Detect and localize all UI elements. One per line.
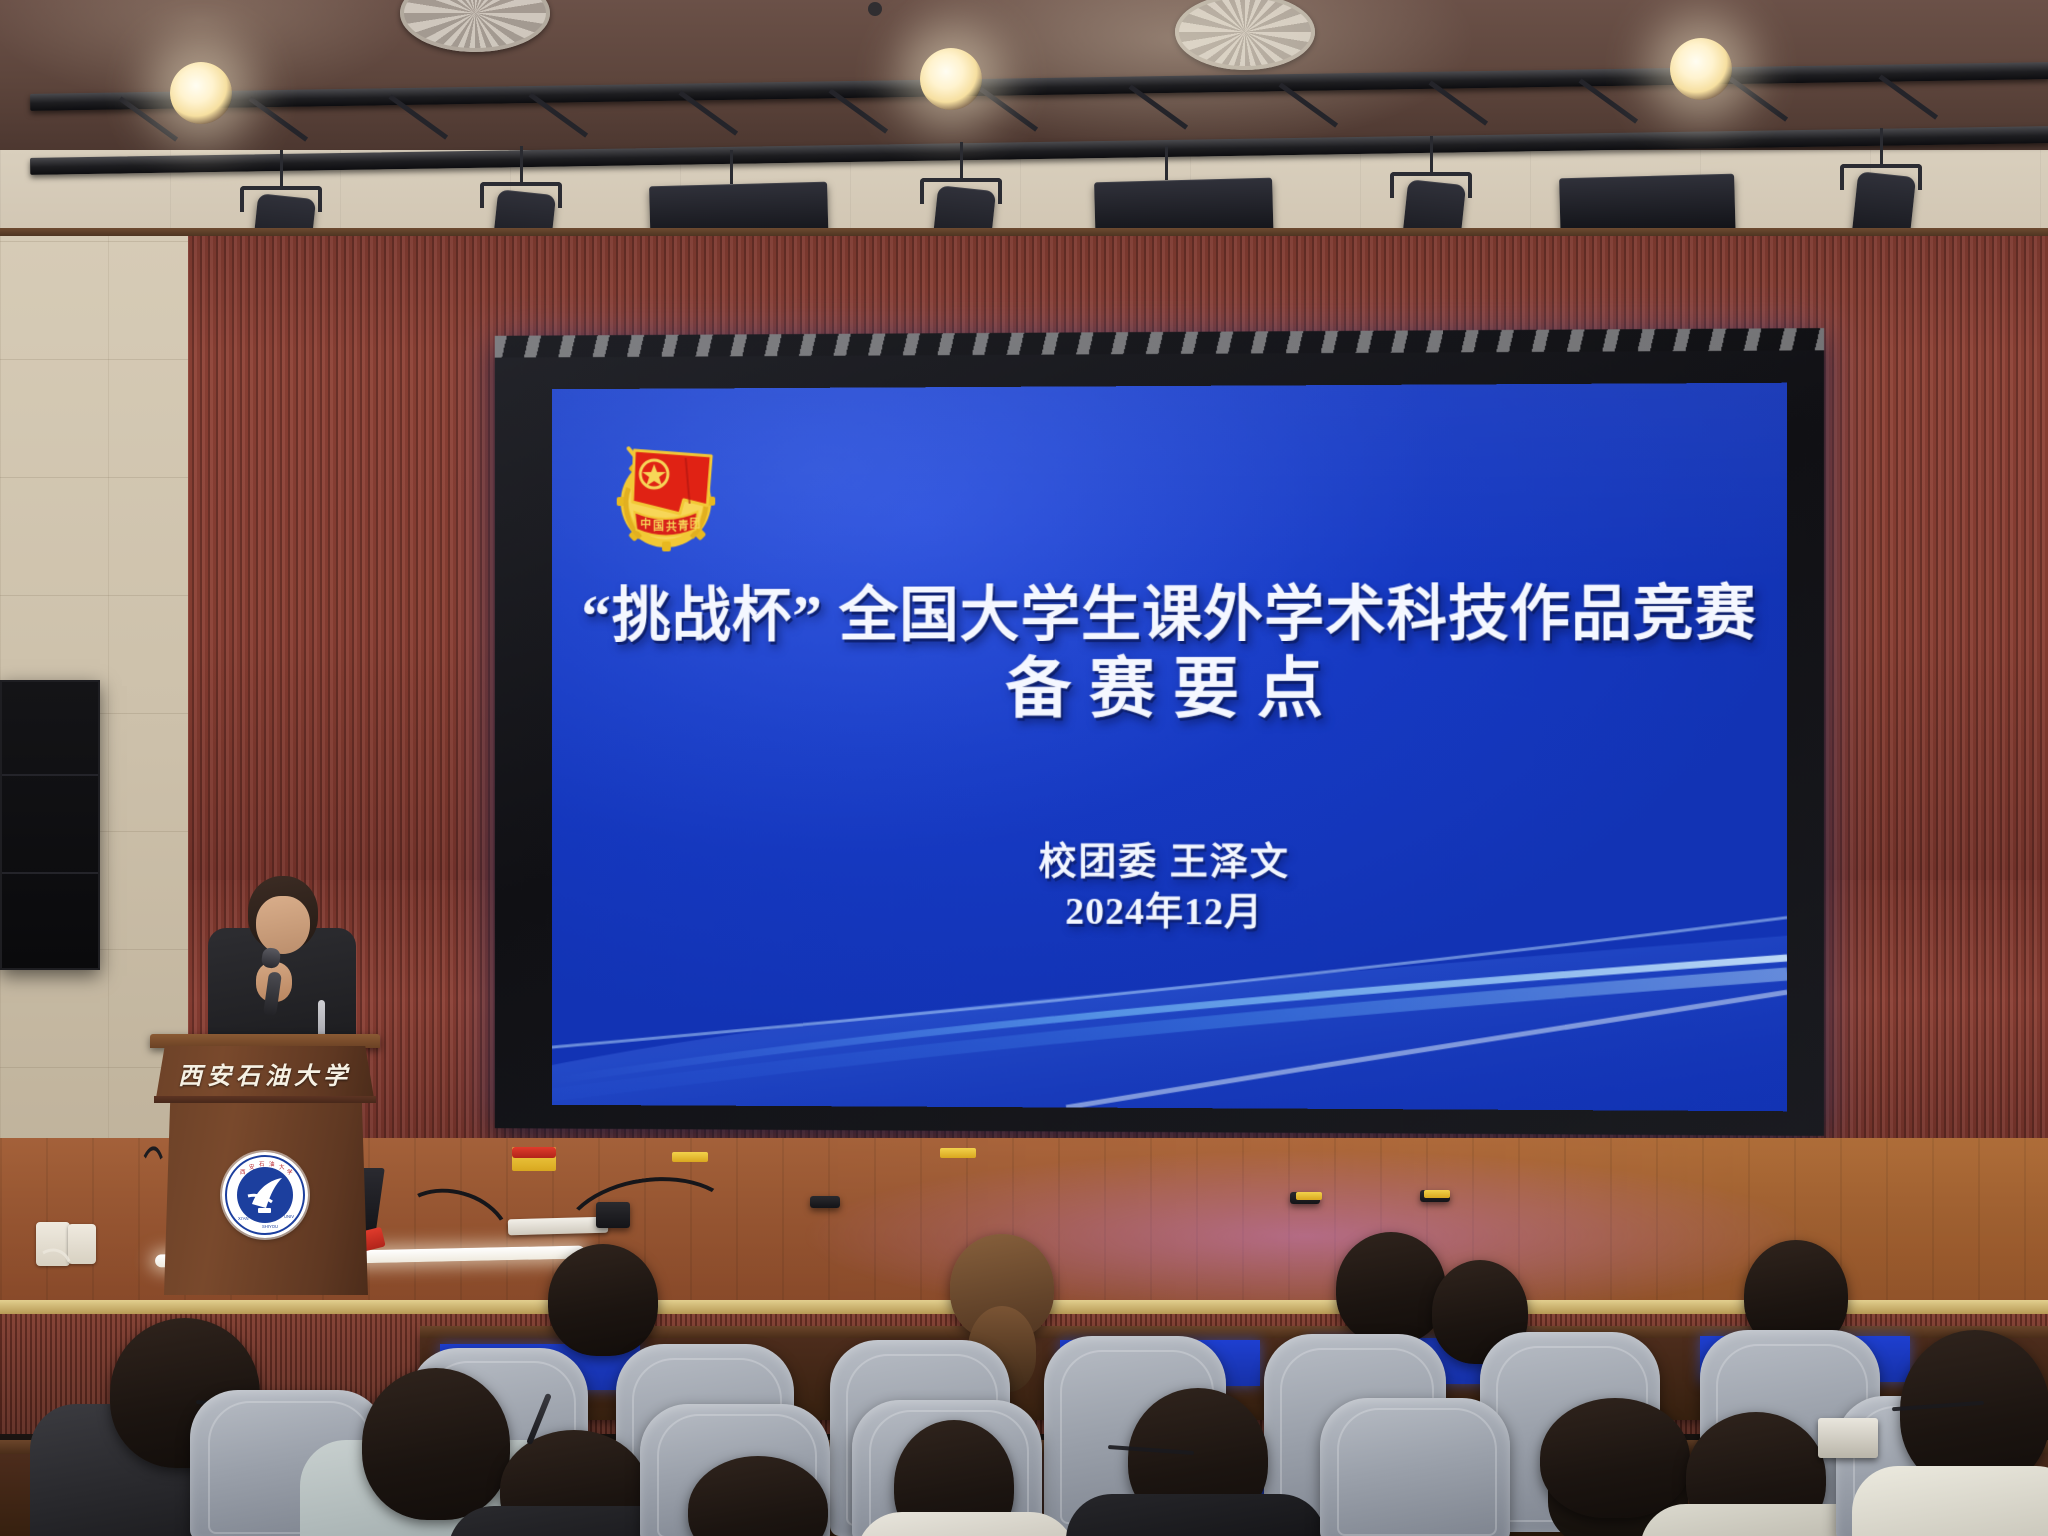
slide-byline-date: 2024年12月 <box>552 879 1787 937</box>
floor-tape <box>1424 1190 1450 1198</box>
audience-head <box>548 1244 658 1356</box>
floor-tape <box>1296 1192 1322 1200</box>
stage-lamp <box>920 48 982 110</box>
svg-text:油: 油 <box>269 1160 275 1168</box>
floor-monitor <box>810 1196 840 1208</box>
red-marker <box>512 1147 556 1158</box>
audience-head <box>362 1368 510 1520</box>
stage-lamp <box>170 62 232 124</box>
speaker-face <box>256 896 310 954</box>
audience-head <box>1540 1398 1690 1518</box>
audience-head <box>1336 1232 1446 1344</box>
podium-divider <box>154 1096 376 1103</box>
slide-byline-presenter: 校团委 王泽文 <box>552 829 1787 886</box>
svg-text:UNIV: UNIV <box>284 1214 294 1219</box>
svg-text:安: 安 <box>249 1163 255 1171</box>
slide-title-line2: 备赛要点 <box>552 651 1787 728</box>
svg-text:中: 中 <box>640 517 651 531</box>
xian-shiyou-university-logo: 西安石 油大学 XI'ANSHIYOUUNIV <box>222 1152 308 1238</box>
svg-text:SHIYOU: SHIYOU <box>262 1224 278 1229</box>
notebook <box>1818 1418 1878 1458</box>
communist-youth-league-emblem: 中国 共青团 <box>607 430 731 556</box>
audience-shoulders <box>856 1512 1076 1536</box>
floor-tape <box>672 1152 708 1162</box>
audience-shoulders <box>1852 1466 2048 1536</box>
podium-header-band: 西安石油大学 <box>156 1046 374 1098</box>
svg-text:XI'AN: XI'AN <box>238 1216 249 1221</box>
stage-lamp <box>1670 38 1732 100</box>
wall-display-panel[interactable] <box>0 680 100 970</box>
screenshot-root: 中国 共青团 “挑战杯” 全国大学生课外学术科技作品竞赛 备赛要点 校团委 王泽… <box>0 0 2048 1536</box>
auditorium-seat[interactable] <box>1320 1398 1510 1536</box>
svg-text:学: 学 <box>287 1168 293 1176</box>
wall-outlet[interactable] <box>68 1224 96 1264</box>
slide-title-line1: “挑战杯” 全国大学生课外学术科技作品竞赛 <box>552 581 1787 649</box>
podium-top <box>150 1034 380 1048</box>
audience-shoulders <box>1066 1494 1326 1536</box>
svg-text:大: 大 <box>279 1163 285 1171</box>
presentation-slide[interactable]: 中国 共青团 “挑战杯” 全国大学生课外学术科技作品竞赛 备赛要点 校团委 王泽… <box>552 383 1787 1112</box>
svg-text:国: 国 <box>653 520 664 533</box>
svg-text:西: 西 <box>240 1169 246 1176</box>
svg-text:共: 共 <box>666 520 677 534</box>
svg-text:团: 团 <box>690 518 701 531</box>
svg-text:青: 青 <box>678 519 689 533</box>
podium-university-name: 西安石油大学 <box>156 1056 374 1091</box>
floor-tape <box>940 1148 976 1158</box>
svg-text:石: 石 <box>259 1161 265 1168</box>
